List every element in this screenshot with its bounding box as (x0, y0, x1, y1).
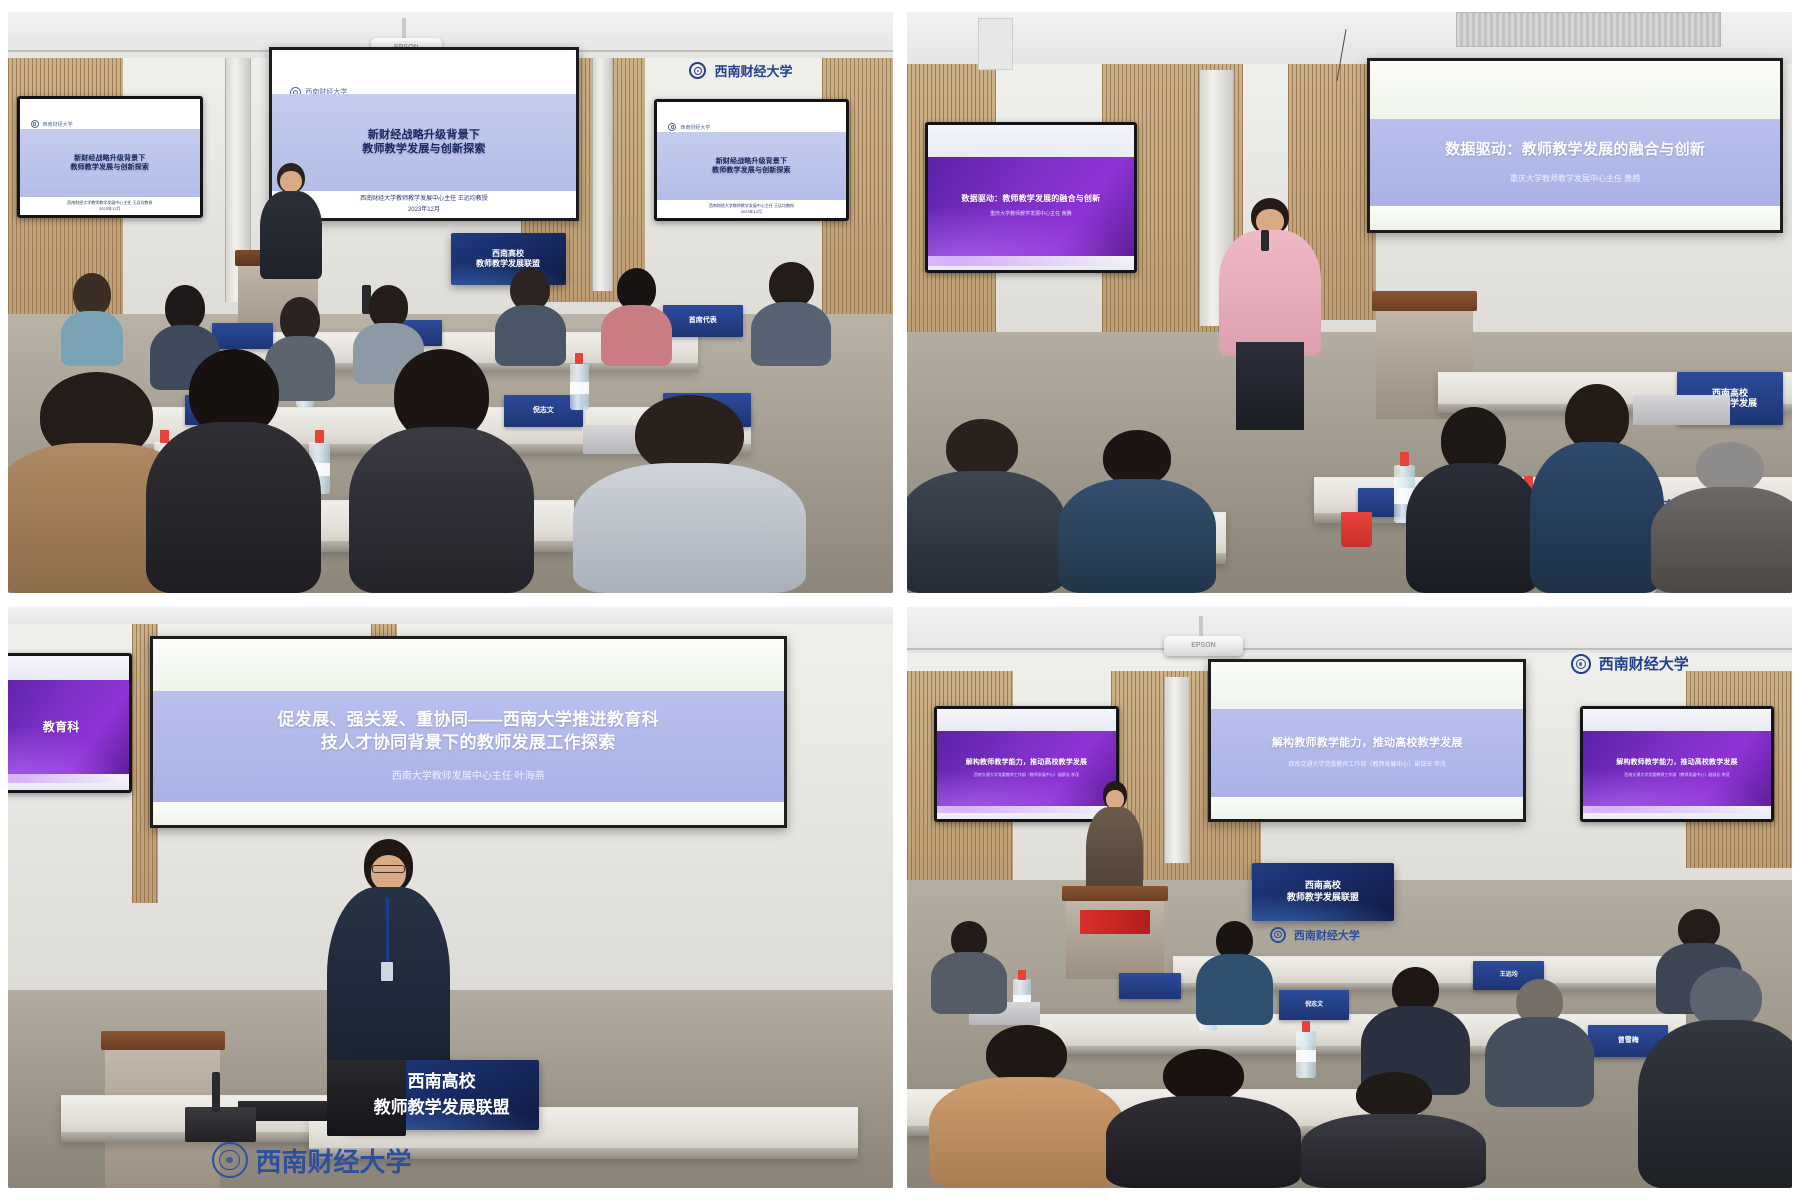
paper-cup-1 (1668, 973, 1695, 1002)
venue-emblem: 西南财经大学 (212, 1142, 412, 1179)
speaker-head (277, 163, 305, 193)
speaker-head (1103, 781, 1128, 809)
slide-top-band: 西南财经大学 (272, 50, 576, 94)
wall-ac-unit (978, 18, 1013, 70)
speaker-face (1106, 790, 1124, 809)
slide-title-line1: 新财经战略升级背景下 (67, 154, 153, 163)
podium-nameplate-line1: 西南高校 (492, 249, 524, 259)
water-bottle-1 (1394, 465, 1415, 523)
side-monitor-left: 西南财经大学 新财经战略升级背景下 教师教学发展与创新探索 西南财经大学教师教学… (17, 96, 203, 218)
slide-subtitle-line1: 西南财经大学教师教学发展中心主任 王远均教授 (342, 195, 506, 204)
slide-subtitle-line1: 重庆大学教师教学发展中心主任 黄腾 (978, 211, 1084, 219)
lectern-top-surface (101, 1031, 225, 1050)
main-projection-screen: 促发展、强关爱、重协同——西南大学推进教育科 技人才协同背景下的教师发展工作探索… (150, 636, 787, 828)
av-equipment (185, 1107, 256, 1142)
slide-main: 促发展、强关爱、重协同——西南大学推进教育科 技人才协同背景下的教师发展工作探索… (153, 639, 784, 825)
main-projection-screen: 数据驱动：教师教学发展的融合与创新 重庆大学教师教学发展中心主任 黄腾 (1367, 58, 1783, 232)
slide-side-left: 数据驱动：教师教学发展的融合与创新 重庆大学教师教学发展中心主任 黄腾 (928, 125, 1134, 270)
slide-side-right: 西南财经大学 新财经战略升级背景下 教师教学发展与创新探索 西南财经大学教师教学… (657, 102, 846, 218)
podium-nameplate-line2: 教师教学发展联盟 (1287, 892, 1359, 904)
slide-main: 解构教师教学能力，推动高校教学发展 西南交通大学党委教师工作部（教师发展中心）副… (1211, 662, 1524, 819)
water-bottle-4 (309, 442, 330, 494)
venue-emblem-label: 西南财经大学 (256, 1142, 412, 1179)
desk-nameplate-1: 首席代表 (663, 305, 743, 337)
university-seal-icon (212, 1142, 248, 1178)
slide-top-band (928, 125, 1134, 157)
badge (381, 962, 393, 981)
slide-title-line1: 促发展、强关爱、重协同——西南大学推进教育科 (252, 709, 684, 732)
slide-logo-label: 西南财经大学 (43, 121, 73, 128)
slide-title-line1: 数据驱动：教师教学发展的融合与创新 (1429, 140, 1722, 160)
slide-top-band (8, 656, 129, 680)
desk-row-3 (26, 500, 575, 552)
event-banner-line2: 教师教学发展联盟 (374, 1097, 510, 1119)
water-bottle-3 (1296, 1031, 1315, 1077)
speaker-face (371, 855, 407, 890)
slide-subtitle-line2: 2023年12月 (729, 209, 773, 215)
slide-top-band (1370, 61, 1780, 118)
desk-nameplate-3: 倪志文 (1279, 990, 1350, 1019)
ceiling-seam (907, 648, 1792, 650)
water-bottle-1 (296, 361, 315, 407)
desk-nameplate-2: 曾雪梅 (1588, 1025, 1668, 1057)
laptop-1 (583, 425, 663, 454)
slide-title-line2: 教师教学发展与创新探索 (705, 166, 799, 175)
slide-side-left: 西南财经大学 新财经战略升级背景下 教师教学发展与创新探索 西南财经大学教师教学… (20, 99, 200, 215)
slide-logo: 西南财经大学 (31, 120, 73, 128)
slide-top-band (153, 639, 784, 691)
main-projection-screen: 解构教师教学能力，推动高校教学发展 西南交通大学党委教师工作部（教师发展中心）副… (1208, 659, 1527, 822)
slide-main: 数据驱动：教师教学发展的融合与创新 重庆大学教师教学发展中心主任 黄腾 (1370, 61, 1780, 229)
slide-subtitle-line1: 西南交通大学党委教师工作部（教师发展中心）副部长 李茂 (1613, 772, 1741, 778)
slide-side-left: 教育科 (8, 656, 129, 789)
water-bottle-3 (154, 442, 175, 494)
slide-bottom-band: 西南财经大学教师教学发展中心主任 王远均教授 2023年12月 (20, 197, 200, 216)
desk-nameplate-4 (1119, 973, 1181, 999)
desk-row-3 (907, 512, 1226, 564)
slide-subtitle-line2: 2023年12月 (88, 206, 131, 212)
desk-nameplate-6 (185, 395, 256, 424)
water-bottle-3 (1633, 547, 1656, 593)
slide-title-band: 数据驱动：教师教学发展的融合与创新 重庆大学教师教学发展中心主任 黄腾 (1370, 119, 1780, 207)
speaker-person (1217, 198, 1323, 430)
microphone (362, 285, 371, 314)
ceiling-air-vent (1456, 12, 1722, 47)
slide-subtitle-line1: 西南大学教师发展中心主任 叶海燕 (354, 769, 583, 784)
university-seal-icon (689, 62, 706, 79)
slide-title-line1: 新财经战略升级背景下 (708, 157, 795, 166)
slide-bottom-band (1370, 206, 1780, 230)
speaker-torso (260, 191, 322, 279)
slide-title-line1: 数据驱动：教师教学发展的融合与创新 (953, 194, 1108, 205)
university-seal-icon (1571, 654, 1591, 674)
podium-top-surface (1062, 886, 1167, 901)
water-bottle-2 (1199, 990, 1217, 1031)
desk-nameplate-4 (212, 323, 274, 349)
desk-row-1 (1173, 956, 1669, 991)
slide-bottom-band (1583, 806, 1772, 819)
speaker-face (280, 171, 302, 192)
projector: EPSON (1164, 636, 1244, 656)
slide-top-band: 西南财经大学 (20, 99, 200, 129)
eyeglasses-icon (372, 865, 406, 872)
projector-brand-label: EPSON (1191, 642, 1216, 649)
lanyard (386, 898, 389, 967)
lecture-room-scene: 教育科 促发展、强关爱、重协同——西南大学推进教育科 技人才协同背景下的教师发展… (8, 607, 893, 1188)
slide-bottom-band (153, 802, 784, 824)
university-seal-icon (1270, 927, 1286, 943)
slide-title-line2: 教师教学发展与创新探索 (63, 163, 156, 172)
water-bottle-5 (1544, 1060, 1565, 1106)
lectern-top-surface (1372, 291, 1477, 311)
paper-cup-1 (1341, 512, 1372, 547)
slide-title-line2: 教师教学发展与创新探索 (350, 142, 498, 157)
speaker-head (364, 839, 414, 892)
slide-top-band (1583, 709, 1772, 731)
laptop-1 (969, 1002, 1040, 1025)
slide-title-line1: 解构教师教学能力，推动高校教学发展 (959, 758, 1095, 767)
table-emblem: 西南财经大学 (1270, 927, 1360, 943)
microphone (212, 1072, 221, 1113)
side-monitor-right: 解构教师教学能力，推动高校教学发展 西南交通大学党委教师工作部（教师发展中心）副… (1580, 706, 1775, 822)
photo-panel-top-left: EPSON 西南财经大学 西南财经大学 新财经战略升级背景下 (8, 12, 893, 593)
slide-subtitle-line1: 西南交通大学党委教师工作部（教师发展中心）副部长 李茂 (1270, 761, 1465, 770)
photo-panel-bottom-right: EPSON 西南财经大学 解构教师教学能力，推动高校教学发展 西南交通大学党委教… (907, 607, 1792, 1188)
slide-bottom-band (8, 774, 129, 790)
lecture-room-scene: EPSON 西南财经大学 西南财经大学 新财经战略升级背景下 (8, 12, 893, 593)
slide-title-line1: 新财经战略升级背景下 (356, 128, 492, 143)
speaker-lower-body (1236, 342, 1304, 430)
side-monitor-right: 西南财经大学 新财经战略升级背景下 教师教学发展与创新探索 西南财经大学教师教学… (654, 99, 849, 221)
speaker-person (256, 163, 327, 279)
venue-emblem-label: 西南财经大学 (1645, 494, 1741, 518)
side-monitor-left: 教育科 (8, 653, 132, 792)
water-bottle-4 (1420, 1031, 1439, 1077)
university-seal-icon (1615, 495, 1637, 517)
photo-panel-top-right: 数据驱动：教师教学发展的融合与创新 重庆大学教师教学发展中心主任 黄腾 数据驱动… (907, 12, 1792, 593)
photo-collage: EPSON 西南财经大学 西南财经大学 新财经战略升级背景下 (0, 0, 1800, 1200)
desk-edge (907, 1126, 1420, 1136)
slide-title-band: 解构教师教学能力，推动高校教学发展 西南交通大学党委教师工作部（教师发展中心）副… (1211, 709, 1524, 797)
table-emblem-label: 西南财经大学 (1294, 927, 1360, 943)
lecture-room-scene: 数据驱动：教师教学发展的融合与创新 重庆大学教师教学发展中心主任 黄腾 数据驱动… (907, 12, 1792, 593)
laptop-1 (1633, 395, 1730, 424)
venue-emblem: 西南财经大学 (1615, 494, 1741, 518)
slide-subtitle-line2: 2023年12月 (390, 206, 458, 215)
podium-nameplate: 西南高校 教师教学发展联盟 (451, 233, 566, 285)
slide-subtitle-line1: 重庆大学教师教学发展中心主任 黄腾 (1485, 173, 1664, 185)
venue-emblem-label: 西南财经大学 (1599, 653, 1689, 674)
slide-bottom-band: 西南财经大学教师教学发展中心主任 王远均教授 2023年12月 (657, 200, 846, 219)
event-banner-line1: 西南高校 (408, 1071, 476, 1093)
slide-title-band: 新财经战略升级背景下 教师教学发展与创新探索 (657, 132, 846, 199)
slide-title-band: 新财经战略升级背景下 教师教学发展与创新探索 (20, 129, 200, 196)
venue-emblem: 西南财经大学 (689, 61, 792, 80)
slide-title-band: 解构教师教学能力，推动高校教学发展 西南交通大学党委教师工作部（教师发展中心）副… (1583, 731, 1772, 806)
desk-nameplate-2: 曾雪梅 (663, 393, 752, 428)
slide-top-band: 西南财经大学 (657, 102, 846, 132)
pillar-right (592, 58, 613, 290)
venue-emblem: 西南财经大学 (1571, 653, 1689, 674)
slide-top-band (1211, 662, 1524, 709)
podium-nameplate: 西南高校 教师教学发展联盟 (1252, 863, 1394, 921)
slide-title-band: 促发展、强关爱、重协同——西南大学推进教育科 技人才协同背景下的教师发展工作探索… (153, 691, 784, 802)
ceiling (907, 607, 1792, 659)
speaker-torso (1219, 230, 1321, 355)
slide-logo-label: 西南财经大学 (680, 124, 710, 131)
desk-row-3 (907, 1089, 1420, 1135)
desk-nameplate-5 (380, 320, 442, 346)
slide-title-line1: 教育科 (37, 719, 85, 735)
seal-icon (668, 123, 676, 131)
slide-side-right: 解构教师教学能力，推动高校教学发展 西南交通大学党委教师工作部（教师发展中心）副… (1583, 709, 1772, 819)
slide-subtitle-line1: 西南交通大学党委教师工作部（教师发展中心）副部长 李茂 (963, 772, 1090, 778)
slide-title-line2: 技人才协同背景下的教师发展工作探索 (296, 732, 641, 755)
paper-cup-1 (274, 459, 302, 488)
seal-icon (31, 120, 39, 128)
water-bottle-2 (570, 364, 589, 410)
podium (1066, 886, 1163, 979)
slide-logo: 西南财经大学 (668, 123, 710, 131)
side-monitor-left: 数据驱动：教师教学发展的融合与创新 重庆大学教师教学发展中心主任 黄腾 (925, 122, 1137, 273)
desk-edge (26, 541, 575, 552)
slide-title-band: 数据驱动：教师教学发展的融合与创新 重庆大学教师教学发展中心主任 黄腾 (928, 157, 1134, 256)
slide-top-band (937, 709, 1117, 731)
venue-emblem-label: 西南财经大学 (714, 61, 792, 80)
slide-title-band: 教育科 (8, 680, 129, 773)
handheld-microphone (1261, 230, 1268, 251)
photo-panel-bottom-left: 教育科 促发展、强关爱、重协同——西南大学推进教育科 技人才协同背景下的教师发展… (8, 607, 893, 1188)
desk-edge (1173, 983, 1669, 990)
lecture-room-scene: EPSON 西南财经大学 解构教师教学能力，推动高校教学发展 西南交通大学党委教… (907, 607, 1792, 1188)
podium-red-banner (1080, 910, 1150, 934)
pillar-center (1164, 677, 1191, 863)
desk-edge (907, 553, 1226, 564)
desk-nameplate-1: 王远均 (1473, 961, 1544, 990)
slide-title-line1: 解构教师教学能力，推动高校教学发展 (1609, 758, 1745, 767)
slide-title-line1: 解构教师教学能力，推动高校教学发展 (1259, 736, 1475, 751)
slide-bottom-band (1211, 797, 1524, 819)
podium-nameplate-line2: 教师教学发展联盟 (476, 259, 540, 269)
podium-nameplate-line1: 西南高校 (1305, 880, 1341, 892)
slide-bottom-band (928, 256, 1134, 271)
water-bottle-2 (1518, 488, 1539, 546)
